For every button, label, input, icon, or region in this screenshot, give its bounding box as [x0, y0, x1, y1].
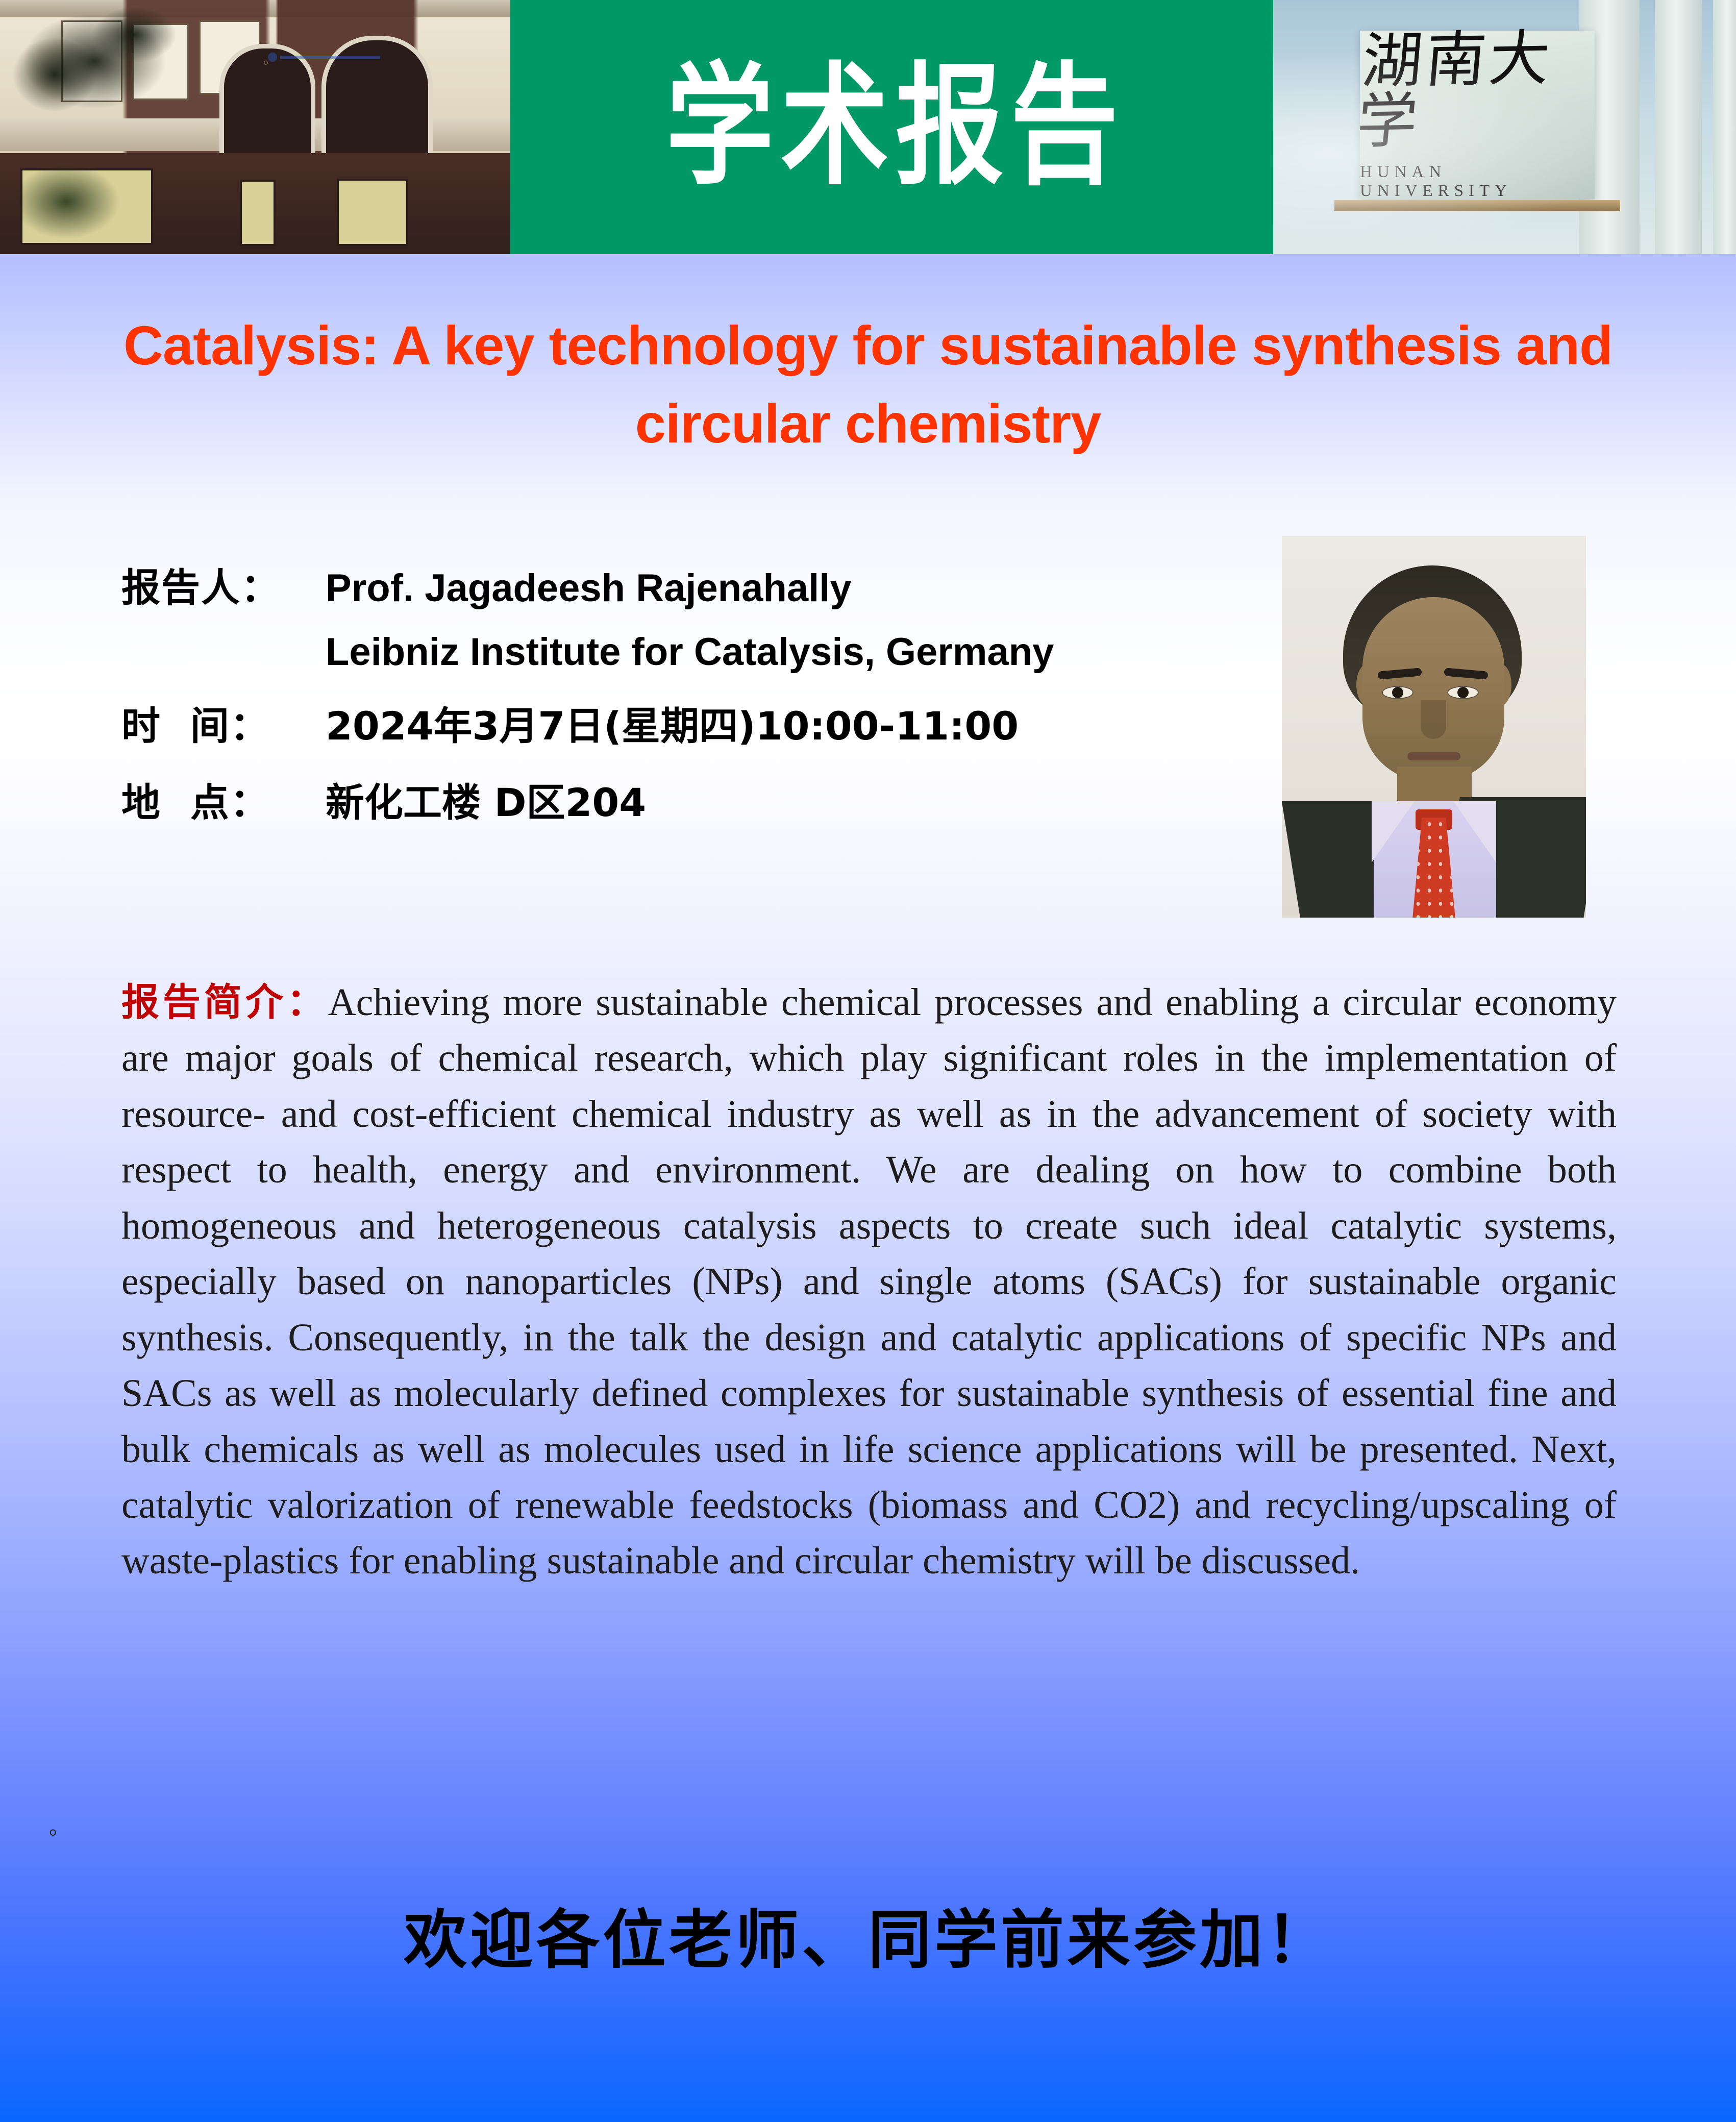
page-title: Catalysis: A key technology for sustaina…: [0, 306, 1736, 463]
talk-details: 报告人： Prof. Jagadeesh Rajenahally Leibniz…: [121, 556, 1254, 830]
stray-mark-top: 。: [263, 49, 277, 68]
time-row: 时 间： 2024年3月7日(星期四)10:00-11:00: [121, 695, 1254, 751]
abstract-section: 报告简介：Achieving more sustainable chemical…: [121, 975, 1617, 1589]
place-row: 地 点： 新化工楼 D区204: [121, 771, 1254, 827]
poster-header: 学术报告 湖南大学 HUNAN UNIVERSITY: [0, 0, 1736, 254]
speaker-label: 报告人：: [121, 556, 326, 612]
stray-mark-bottom: 。: [49, 1811, 69, 1840]
banner-title-block: 学术报告: [510, 0, 1273, 254]
place-value: 新化工楼 D区204: [326, 771, 646, 827]
place-label: 地 点：: [121, 771, 326, 827]
watermark-logo: [268, 51, 380, 63]
speaker-portrait-photo: [1282, 536, 1586, 918]
speaker-row: 报告人： Prof. Jagadeesh Rajenahally: [121, 556, 1254, 612]
speaker-affiliation: Leibniz Institute for Catalysis, Germany: [326, 630, 1254, 674]
hunan-university-gate-photo: 湖南大学 HUNAN UNIVERSITY: [1273, 0, 1736, 254]
time-label: 时 间：: [121, 695, 326, 751]
campus-building-photo: [0, 0, 510, 254]
seminar-poster: 学术报告 湖南大学 HUNAN UNIVERSITY 。 Catalysis: …: [0, 0, 1736, 2122]
abstract-label: 报告简介：: [121, 980, 328, 1024]
banner-title: 学术报告: [665, 61, 1125, 192]
welcome-message: 欢迎各位老师、同学前来参加！: [0, 1888, 1736, 1980]
time-value: 2024年3月7日(星期四)10:00-11:00: [326, 695, 1019, 751]
abstract-body: Achieving more sustainable chemical proc…: [121, 981, 1617, 1582]
speaker-name: Prof. Jagadeesh Rajenahally: [326, 566, 852, 610]
